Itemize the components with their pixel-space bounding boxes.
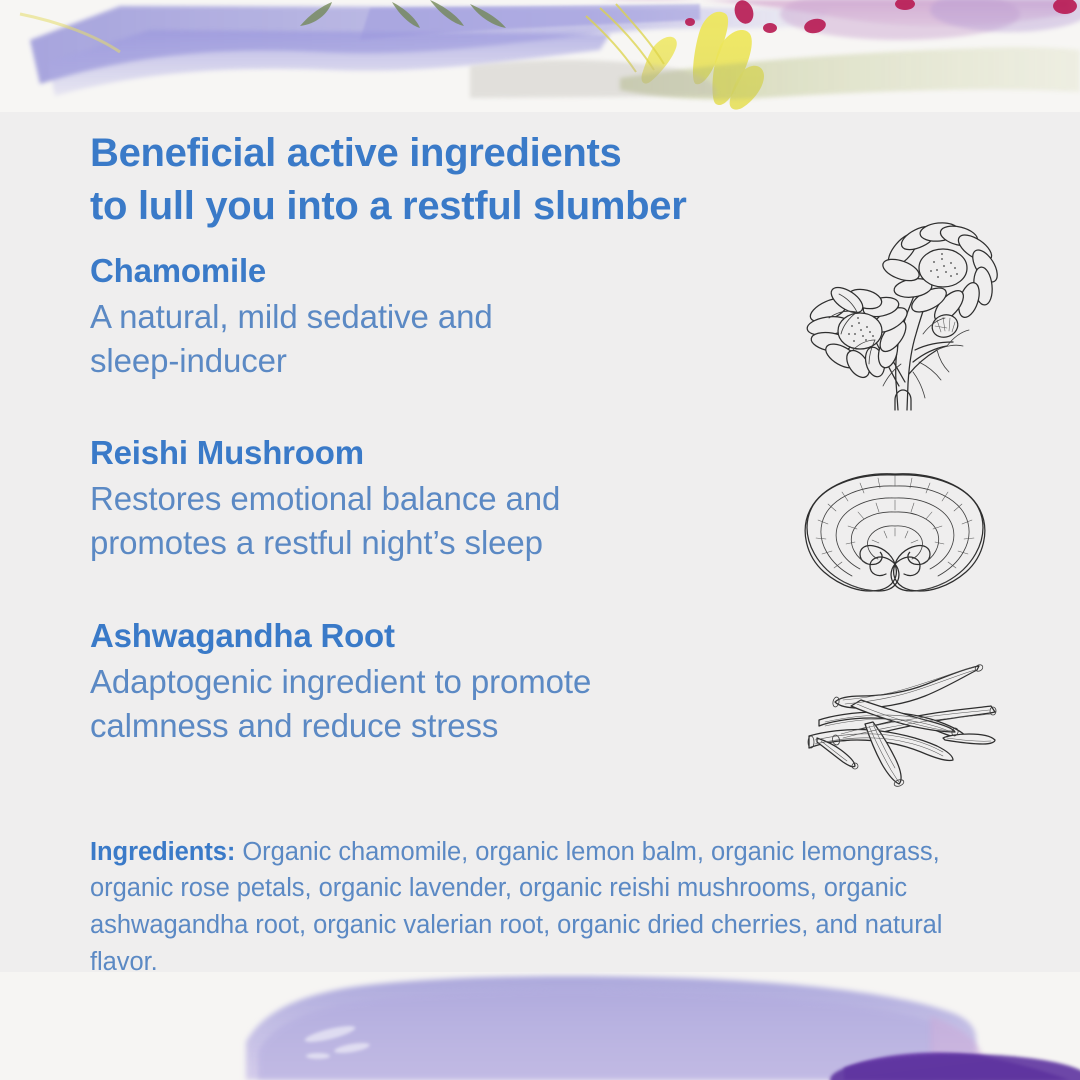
ingredients-label: Ingredients:: [90, 838, 235, 866]
ingredient-name: Reishi Mushroom: [90, 434, 790, 473]
product-ingredients-infographic: Beneficial active ingredients to lull yo…: [0, 0, 1080, 1080]
ingredient-name: Chamomile: [90, 252, 790, 291]
full-ingredients-statement: Ingredients: Organic chamomile, organic …: [90, 834, 995, 982]
ingredient-description-line-1: Adaptogenic ingredient to promote: [90, 660, 790, 704]
ingredient-description-line-1: A natural, mild sedative and: [90, 295, 790, 339]
page-title: Beneficial active ingredients to lull yo…: [90, 127, 880, 233]
ingredient-description-line-2: promotes a restful night’s sleep: [90, 521, 790, 565]
ingredient-description: A natural, mild sedative and sleep-induc…: [90, 295, 790, 383]
ingredient-name: Ashwagandha Root: [90, 617, 790, 656]
ingredient-description-line-1: Restores emotional balance and: [90, 477, 790, 521]
page-title-line-1: Beneficial active ingredients: [90, 127, 880, 180]
ingredient-description: Restores emotional balance and promotes …: [90, 477, 790, 565]
ingredient-block-chamomile: Chamomile A natural, mild sedative and s…: [90, 252, 790, 383]
ingredient-description-line-2: sleep-inducer: [90, 339, 790, 383]
page-title-line-2: to lull you into a restful slumber: [90, 180, 880, 233]
ingredient-description-line-2: calmness and reduce stress: [90, 704, 790, 748]
ingredient-block-ashwagandha-root: Ashwagandha Root Adaptogenic ingredient …: [90, 617, 790, 748]
ingredient-block-reishi-mushroom: Reishi Mushroom Restores emotional balan…: [90, 434, 790, 565]
content-column: Beneficial active ingredients to lull yo…: [90, 0, 1010, 1080]
ingredient-description: Adaptogenic ingredient to promote calmne…: [90, 660, 790, 748]
